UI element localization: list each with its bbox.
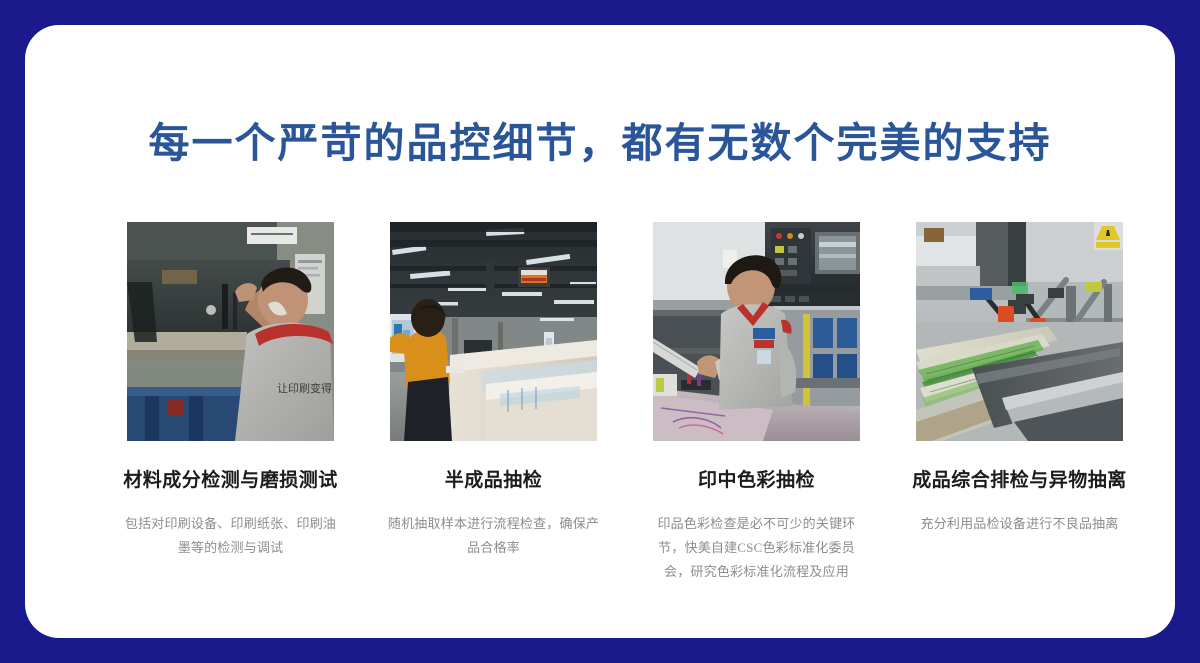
photo-semifinished-sampling (390, 222, 597, 441)
photo-material-inspection: 让印刷变得 (127, 222, 334, 441)
card-title: 成品综合排检与异物抽离 (912, 469, 1127, 494)
card-title: 半成品抽检 (445, 469, 543, 494)
quality-control-card-list: 让印刷变得 材料成分检测与磨损测试 包括对印刷设备、印刷纸张、印刷油墨等的检测与… (115, 222, 1135, 584)
list-item[interactable]: 让印刷变得 材料成分检测与磨损测试 包括对印刷设备、印刷纸张、印刷油墨等的检测与… (115, 222, 346, 560)
list-item[interactable]: 半成品抽检 随机抽取样本进行流程检查，确保产品合格率 (378, 222, 609, 560)
card-title: 材料成分检测与磨损测试 (123, 469, 338, 494)
page-canvas: 每一个严苛的品控细节，都有无数个完美的支持 (25, 25, 1175, 638)
card-title: 印中色彩抽检 (698, 469, 815, 494)
photo-color-sampling (653, 222, 860, 441)
list-item[interactable]: 印中色彩抽检 印品色彩检查是必不可少的关键环节，快美自建CSC色彩标准化委员会，… (641, 222, 872, 584)
card-description: 包括对印刷设备、印刷纸张、印刷油墨等的检测与调试 (125, 512, 337, 560)
list-item[interactable]: 成品综合排检与异物抽离 充分利用品检设备进行不良品抽离 (904, 222, 1135, 536)
page-frame: 每一个严苛的品控细节，都有无数个完美的支持 (0, 0, 1200, 663)
card-description: 随机抽取样本进行流程检查，确保产品合格率 (386, 512, 602, 560)
card-description: 印品色彩检查是必不可少的关键环节，快美自建CSC色彩标准化委员会，研究色彩标准化… (648, 512, 866, 584)
photo-finished-inspection (916, 222, 1123, 441)
page-title: 每一个严苛的品控细节，都有无数个完美的支持 (25, 117, 1175, 170)
card-description: 充分利用品检设备进行不良品抽离 (905, 512, 1135, 536)
